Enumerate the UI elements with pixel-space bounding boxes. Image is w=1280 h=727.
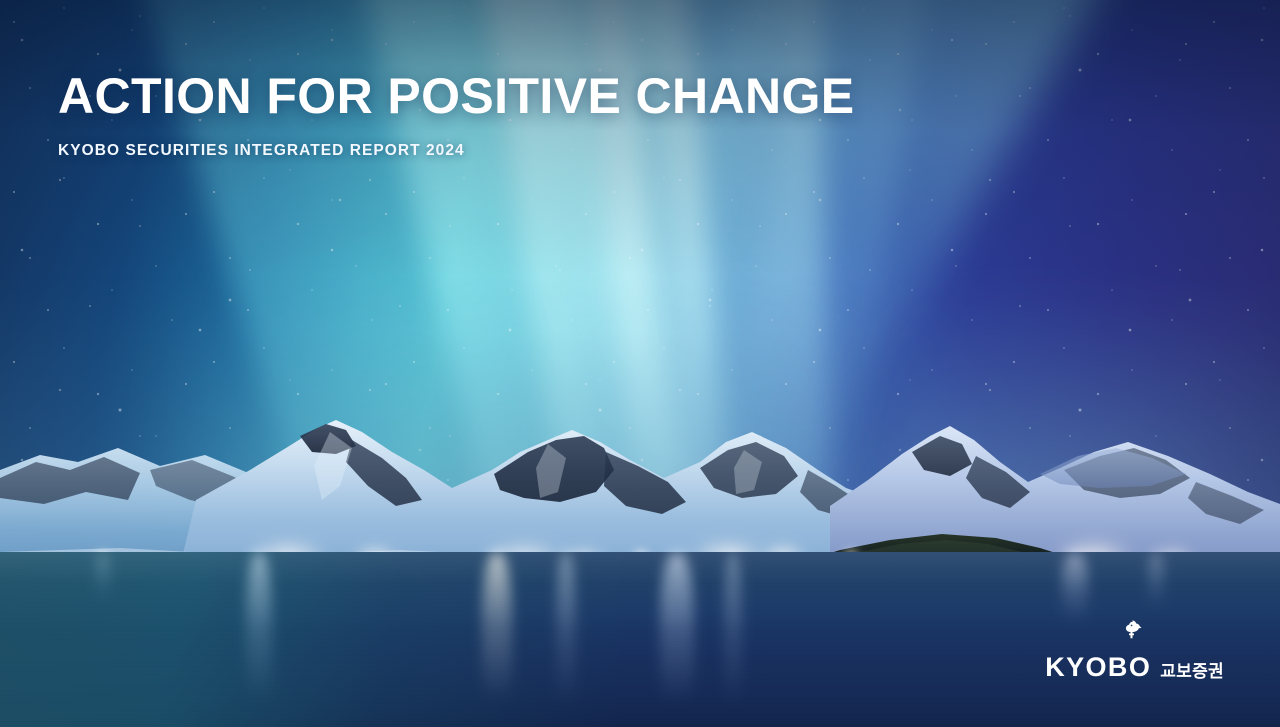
- kyobo-logo: KYOBO 교보증권: [1045, 617, 1224, 681]
- bird-icon: [1120, 617, 1150, 652]
- logo-wordmark: KYOBO: [1045, 654, 1151, 681]
- page-title: ACTION FOR POSITIVE CHANGE: [58, 68, 855, 124]
- report-cover: ACTION FOR POSITIVE CHANGE KYOBO SECURIT…: [0, 0, 1280, 727]
- report-subtitle: KYOBO SECURITIES INTEGRATED REPORT 2024: [58, 142, 465, 160]
- logo-korean-name: 교보증권: [1160, 663, 1224, 682]
- logo-text-row: KYOBO 교보증권: [1045, 654, 1224, 681]
